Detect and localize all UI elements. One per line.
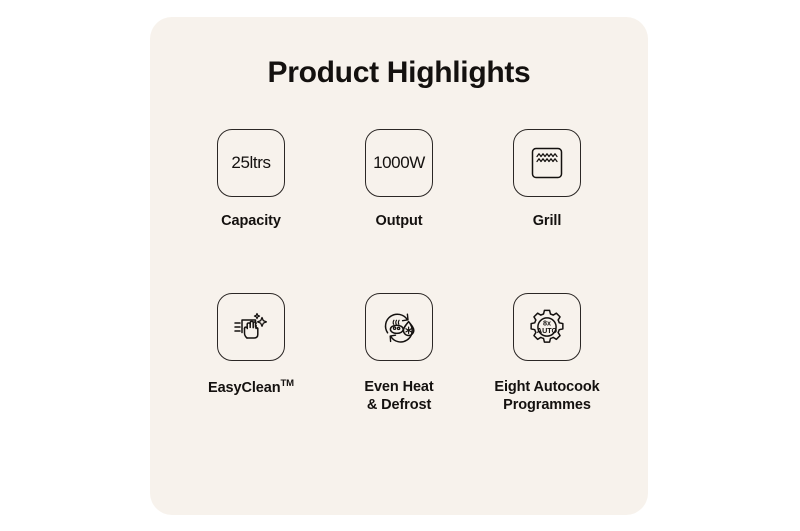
features-row-1: 25ltrs Capacity 1000W Output [178, 129, 620, 231]
page-root: Product Highlights 25ltrs Capacity 1000W… [0, 0, 800, 531]
easyclean-label: EasyCleanTM [208, 378, 294, 397]
grill-label: Grill [533, 212, 562, 231]
output-label: Output [376, 212, 423, 231]
capacity-tile: 25ltrs [217, 129, 285, 197]
output-tile: 1000W [365, 129, 433, 197]
capacity-label: Capacity [221, 212, 281, 231]
heat-defrost-cycle-icon [379, 307, 419, 347]
feature-grill: Grill [474, 129, 620, 231]
features-grid: 25ltrs Capacity 1000W Output [178, 129, 620, 415]
easyclean-tile [217, 293, 285, 361]
feature-capacity: 25ltrs Capacity [178, 129, 324, 231]
output-value: 1000W [373, 153, 425, 173]
eight-autocook-label: Eight Autocook Programmes [494, 378, 599, 415]
grill-tile [513, 129, 581, 197]
feature-eight-autocook: 8x AUTO Eight Autocook Programmes [474, 293, 620, 415]
grill-element-icon [529, 145, 565, 181]
hand-wipe-sparkle-icon [231, 307, 271, 347]
feature-output: 1000W Output [326, 129, 472, 231]
gear-auto-icon: 8x AUTO [527, 307, 567, 347]
trademark-symbol: TM [280, 378, 294, 389]
even-heat-defrost-label: Even Heat & Defrost [364, 378, 433, 415]
features-row-2: EasyCleanTM [178, 293, 620, 415]
gear-icon-text-bottom: AUTO [537, 326, 558, 335]
even-heat-defrost-tile [365, 293, 433, 361]
page-title: Product Highlights [150, 55, 648, 91]
product-highlights-card: Product Highlights 25ltrs Capacity 1000W… [150, 17, 648, 515]
feature-even-heat-defrost: Even Heat & Defrost [326, 293, 472, 415]
eight-autocook-tile: 8x AUTO [513, 293, 581, 361]
feature-easyclean: EasyCleanTM [178, 293, 324, 397]
capacity-value: 25ltrs [231, 153, 270, 173]
easyclean-label-text: EasyClean [208, 379, 280, 395]
